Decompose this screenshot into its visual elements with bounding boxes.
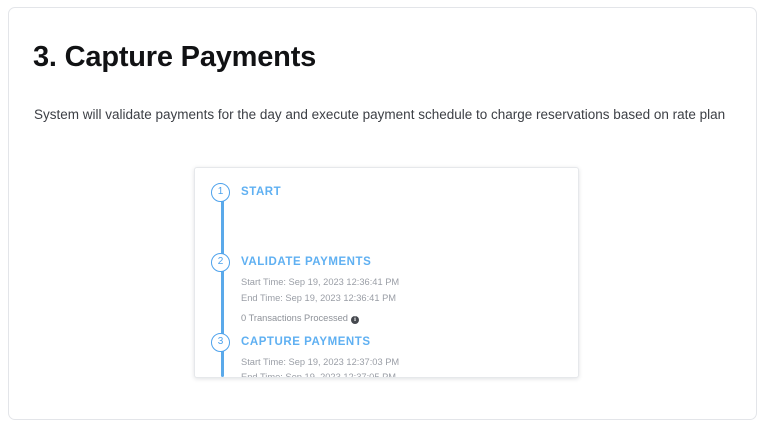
timeline-step-start[interactable]: 1 START — [195, 183, 578, 202]
step-transactions-count: 0 Transactions Processed — [241, 313, 348, 323]
step-number-badge: 1 — [211, 183, 230, 202]
timeline-list: 1 START 2 VALIDATE PAYMENTS Start Time: … — [195, 168, 578, 377]
timeline-step-validate-payments[interactable]: 2 VALIDATE PAYMENTS Start Time: Sep 19, … — [195, 253, 578, 327]
step-end-time: End Time: Sep 19, 2023 12:36:41 PM — [241, 291, 578, 307]
page-frame: 3. Capture Payments System will validate… — [8, 7, 757, 420]
page-subtitle: System will validate payments for the da… — [34, 104, 734, 125]
step-title: CAPTURE PAYMENTS — [241, 333, 578, 352]
step-start-time: Start Time: Sep 19, 2023 12:37:03 PM — [241, 355, 578, 371]
step-transactions-row: 0 Transactions Processedi — [241, 311, 578, 327]
info-icon[interactable]: i — [351, 316, 359, 324]
step-details: Start Time: Sep 19, 2023 12:37:03 PM End… — [241, 355, 578, 379]
step-end-time: End Time: Sep 19, 2023 12:37:05 PM — [241, 370, 578, 378]
step-title: VALIDATE PAYMENTS — [241, 253, 578, 272]
step-number-badge: 3 — [211, 333, 230, 352]
step-number-badge: 2 — [211, 253, 230, 272]
timeline-step-capture-payments[interactable]: 3 CAPTURE PAYMENTS Start Time: Sep 19, 2… — [195, 333, 578, 379]
step-start-time: Start Time: Sep 19, 2023 12:36:41 PM — [241, 275, 578, 291]
page-title: 3. Capture Payments — [33, 41, 316, 74]
timeline-card[interactable]: 1 START 2 VALIDATE PAYMENTS Start Time: … — [194, 167, 579, 378]
step-title: START — [241, 183, 578, 202]
step-details: Start Time: Sep 19, 2023 12:36:41 PM End… — [241, 275, 578, 327]
